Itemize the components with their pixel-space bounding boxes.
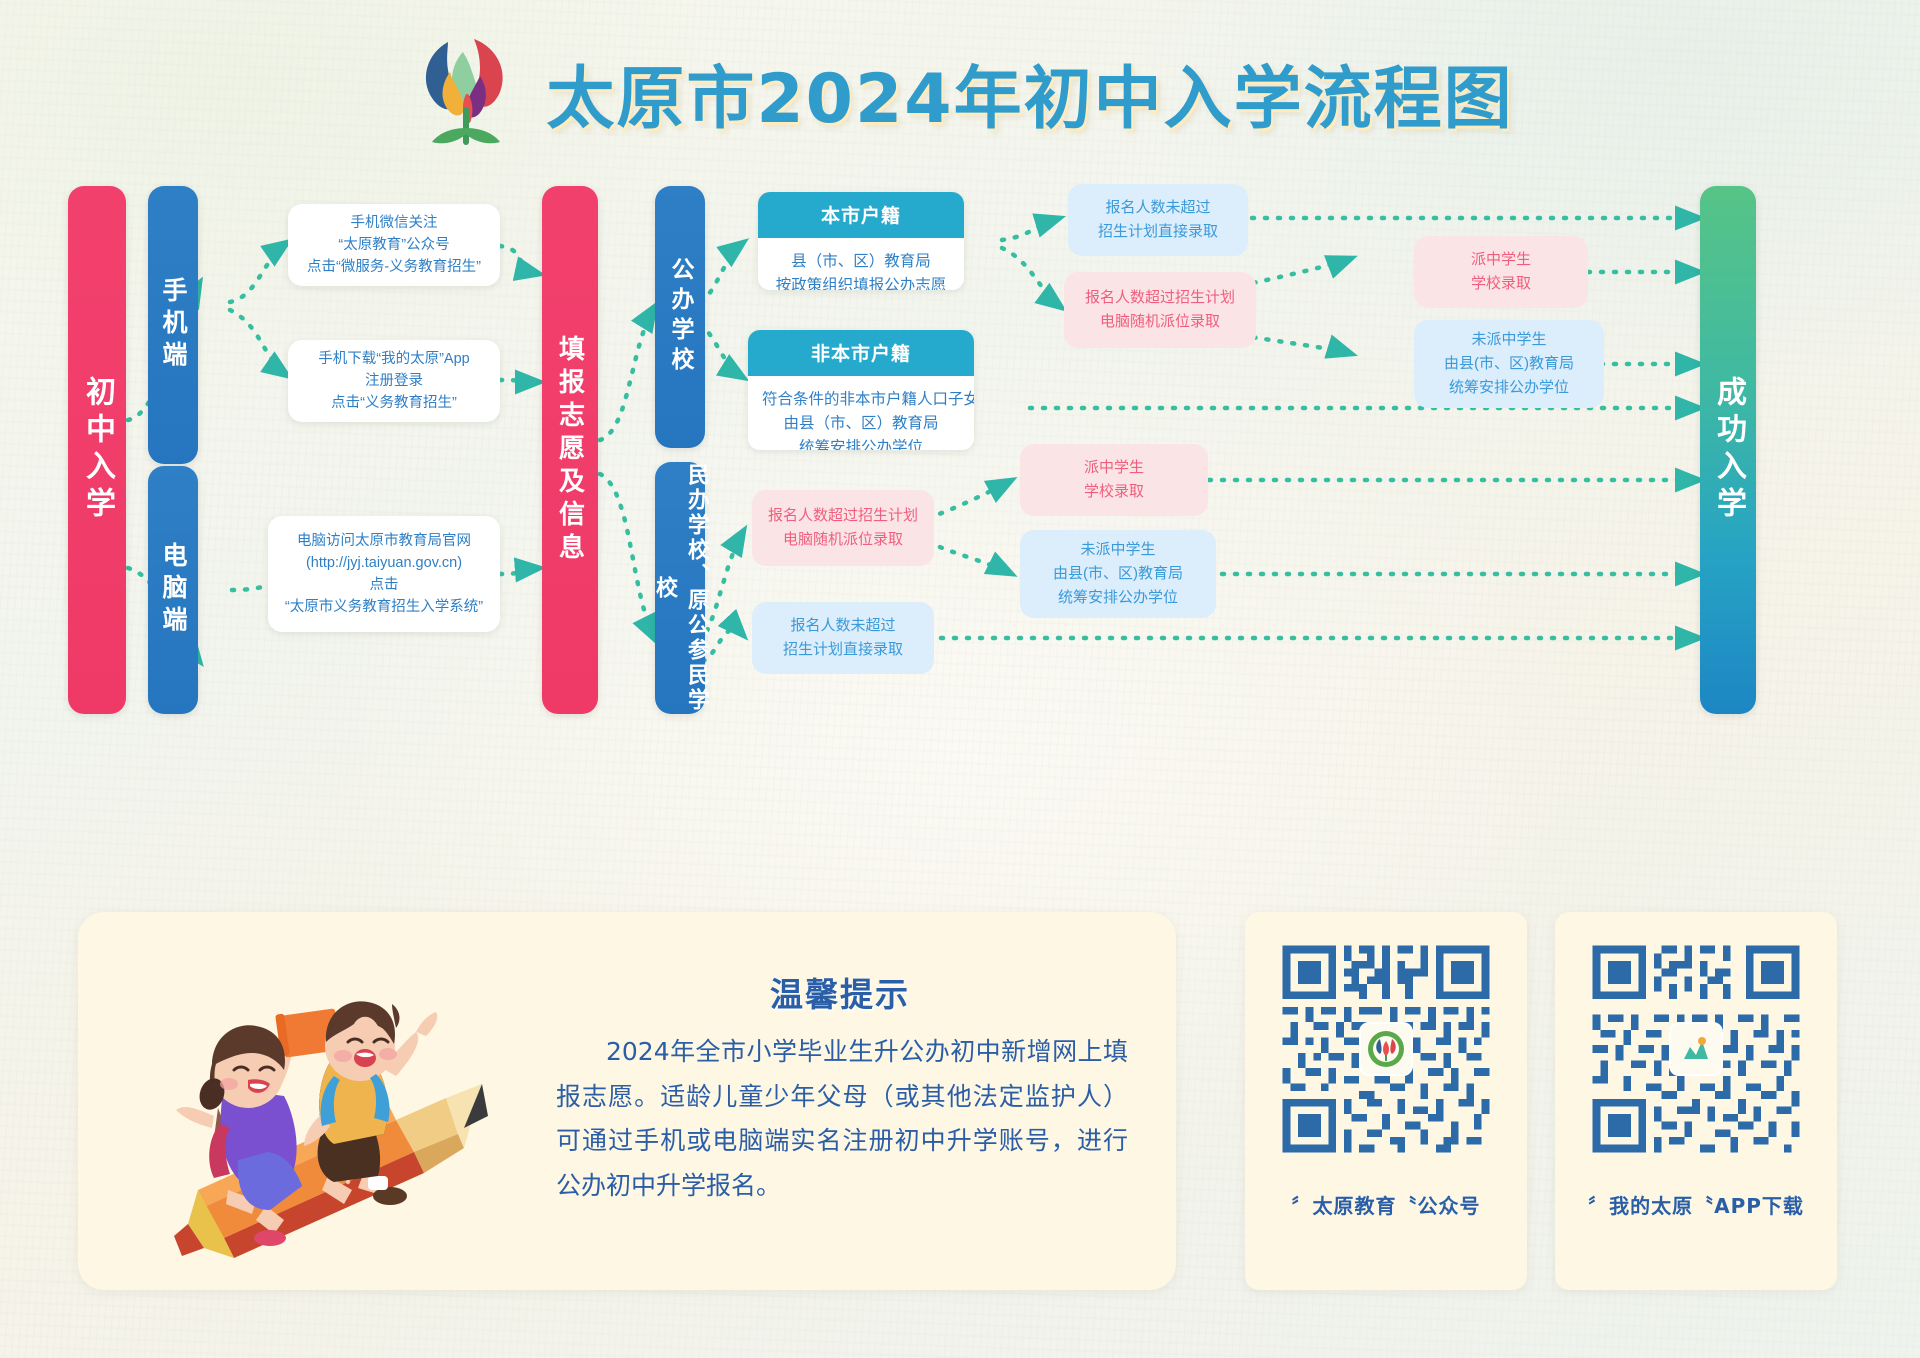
card-line: 点击 — [370, 574, 399, 596]
card-local-household[interactable]: 本市户籍 县（市、区）教育局 按政策组织填报公办志愿 — [758, 192, 964, 290]
pill-public-allocated[interactable]: 派中学生 学校录取 — [1414, 236, 1588, 308]
pill-line: 未派中学生 — [1080, 538, 1155, 562]
pill-line: 电脑随机派位录取 — [783, 528, 903, 552]
pill-private-unallocated[interactable]: 未派中学生 由县(市、区)教育局 统筹安排公办学位 — [1020, 530, 1216, 618]
flow-bar-pc-channel[interactable]: 电脑端 — [148, 466, 198, 714]
card-line: 按政策组织填报公办志愿 — [772, 274, 950, 290]
pill-line: 报名人数未超过 — [1105, 196, 1210, 220]
flow-bar-fill-application[interactable]: 填报志愿及信息 — [542, 186, 598, 714]
qr-card-wechat[interactable]: 〞太原教育〝公众号 — [1245, 912, 1527, 1290]
flow-bar-private-school[interactable]: 民办学校、原公参民学校 — [655, 462, 705, 714]
pill-public-under-quota[interactable]: 报名人数未超过 招生计划直接录取 — [1068, 184, 1248, 256]
page-title: 太原市2024年初中入学流程图 — [546, 43, 1513, 142]
qr-card-app[interactable]: 〞我的太原〝APP下载 — [1555, 912, 1837, 1290]
tips-body: 2024年全市小学毕业生升公办初中新增网上填报志愿。适龄儿童少年父母（或其他法定… — [556, 1030, 1128, 1208]
qr-center-logo — [1359, 1022, 1413, 1076]
flow-bar-public-school[interactable]: 公办学校 — [655, 186, 705, 448]
card-header: 本市户籍 — [758, 192, 964, 238]
pill-line: 报名人数超过招生计划 — [768, 504, 918, 528]
tips-title: 温馨提示 — [600, 968, 1080, 1016]
my-taiyuan-app-qr — [1585, 938, 1807, 1160]
flow-bar-success[interactable]: 成功入学 — [1700, 186, 1756, 714]
pill-line: 报名人数超过招生计划 — [1085, 286, 1235, 310]
pill-private-under-quota[interactable]: 报名人数未超过 招生计划直接录取 — [752, 602, 934, 674]
flow-bar-mobile-channel[interactable]: 手机端 — [148, 186, 198, 464]
card-mobile-step-wechat[interactable]: 手机微信关注 “太原教育”公众号 点击“微服务-义务教育招生” — [288, 204, 500, 286]
card-line: 手机下载“我的太原”App — [318, 348, 469, 370]
pill-line: 由县(市、区)教育局 — [1444, 352, 1574, 376]
card-line: 县（市、区）教育局 — [772, 250, 950, 274]
card-line: “太原教育”公众号 — [338, 234, 449, 256]
pill-line: 由县(市、区)教育局 — [1053, 562, 1183, 586]
qr-caption: 〞太原教育〝公众号 — [1292, 1190, 1481, 1219]
pill-line: 统筹安排公办学位 — [1058, 586, 1178, 610]
card-line: (http://jyj.taiyuan.gov.cn) — [306, 552, 462, 574]
pill-line: 招生计划直接录取 — [783, 638, 903, 662]
pill-line: 招生计划直接录取 — [1098, 220, 1218, 244]
qr-caption: 〞我的太原〝APP下载 — [1588, 1190, 1804, 1219]
pill-private-allocated[interactable]: 派中学生 学校录取 — [1020, 444, 1208, 516]
card-line: 符合条件的非本市户籍人口子女 — [762, 388, 960, 412]
card-header: 非本市户籍 — [748, 330, 974, 376]
pill-line: 派中学生 — [1471, 248, 1531, 272]
pill-line: 派中学生 — [1084, 456, 1144, 480]
card-line: 电脑访问太原市教育局官网 — [297, 530, 471, 552]
card-body: 县（市、区）教育局 按政策组织填报公办志愿 — [758, 238, 964, 290]
pill-public-unallocated[interactable]: 未派中学生 由县(市、区)教育局 统筹安排公办学位 — [1414, 320, 1604, 408]
pill-line: 统筹安排公办学位 — [1449, 376, 1569, 400]
pill-line: 学校录取 — [1471, 272, 1531, 296]
card-mobile-step-app[interactable]: 手机下载“我的太原”App 注册登录 点击“义务教育招生” — [288, 340, 500, 422]
pill-line: 学校录取 — [1084, 480, 1144, 504]
card-line: 手机微信关注 — [351, 212, 438, 234]
pill-private-over-quota[interactable]: 报名人数超过招生计划 电脑随机派位录取 — [752, 490, 934, 566]
poster-header: 太原市2024年初中入学流程图 — [0, 36, 1920, 148]
pill-line: 报名人数未超过 — [790, 614, 895, 638]
card-body: 符合条件的非本市户籍人口子女 由县（市、区）教育局 统筹安排公办学位 — [748, 376, 974, 450]
card-pc-step-website[interactable]: 电脑访问太原市教育局官网 (http://jyj.taiyuan.gov.cn)… — [268, 516, 500, 632]
two-children-riding-pencil-illustration — [96, 938, 496, 1268]
pill-public-over-quota[interactable]: 报名人数超过招生计划 电脑随机派位录取 — [1064, 272, 1256, 348]
flowchart: 初中入学 手机端 电脑端 手机微信关注 “太原教育”公众号 点击“微服务-义务教… — [0, 150, 1920, 760]
card-line: 点击“微服务-义务教育招生” — [307, 256, 481, 278]
pill-line: 未派中学生 — [1471, 328, 1546, 352]
card-nonlocal-household[interactable]: 非本市户籍 符合条件的非本市户籍人口子女 由县（市、区）教育局 统筹安排公办学位 — [748, 330, 974, 450]
qr-center-logo — [1669, 1022, 1723, 1076]
card-line: 注册登录 — [365, 370, 423, 392]
card-line: 统筹安排公办学位 — [762, 436, 960, 450]
taiyuan-education-wechat-qr — [1275, 938, 1497, 1160]
card-line: 点击“义务教育招生” — [331, 392, 457, 414]
taiyuan-education-lotus-logo — [406, 36, 528, 148]
card-line: 由县（市、区）教育局 — [762, 412, 960, 436]
card-line: “太原市义务教育招生入学系统” — [285, 596, 483, 618]
pill-line: 电脑随机派位录取 — [1100, 310, 1220, 334]
flow-bar-start[interactable]: 初中入学 — [68, 186, 126, 714]
